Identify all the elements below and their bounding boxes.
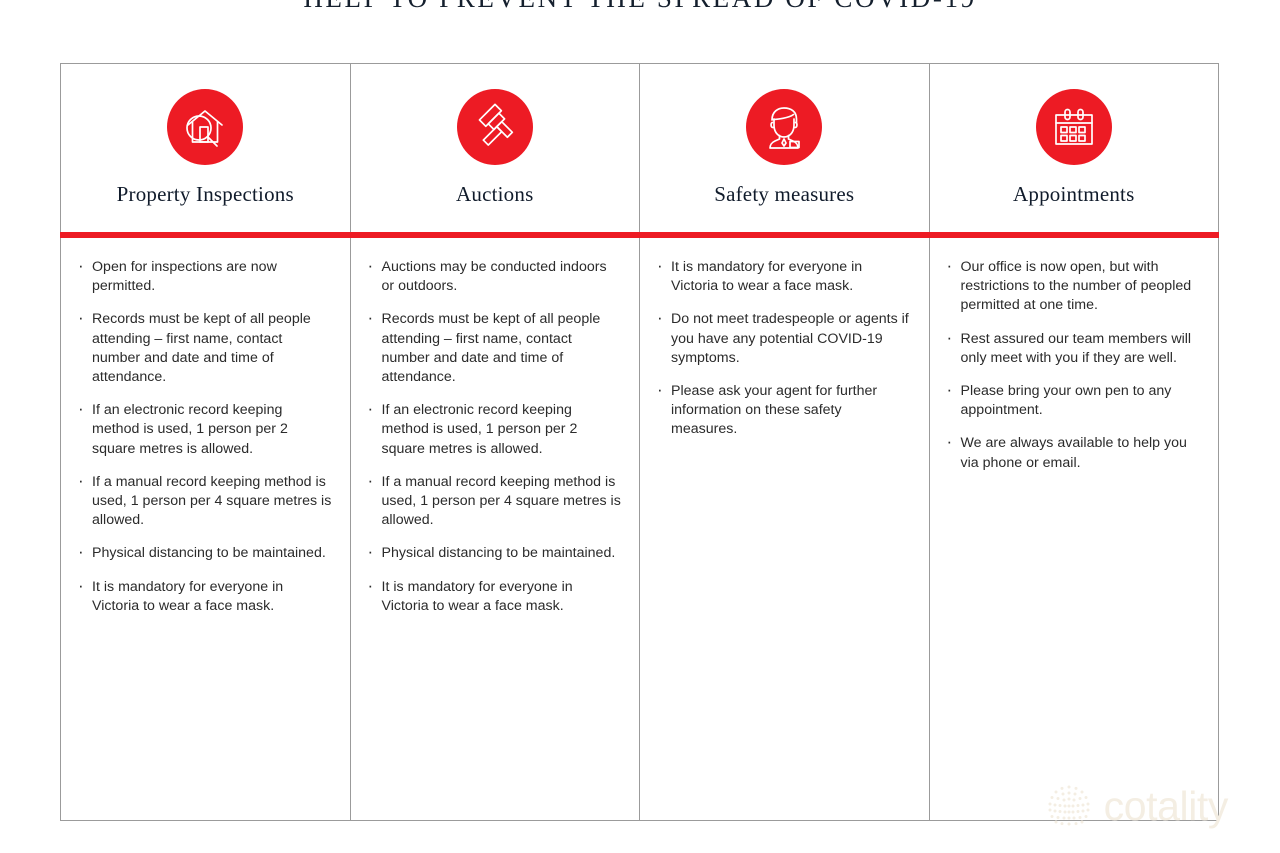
column-header-auctions: Auctions	[351, 64, 640, 236]
bullet-list: Auctions may be conducted indoors or out…	[367, 258, 622, 616]
list-item: It is mandatory for everyone in Victoria…	[77, 578, 332, 616]
house-magnifier-icon	[167, 89, 243, 165]
infographic-page: HELP TO PREVENT THE SPREAD OF COVID-19 P…	[0, 0, 1280, 853]
column-property-inspections: Property Inspections Open for inspection…	[61, 64, 351, 820]
bullet-list: It is mandatory for everyone in Victoria…	[656, 258, 911, 440]
bullet-list: Open for inspections are now permitted. …	[77, 258, 332, 616]
list-item: Physical distancing to be maintained.	[367, 544, 622, 563]
list-item: If a manual record keeping method is use…	[367, 473, 622, 531]
list-item: If an electronic record keeping method i…	[367, 401, 622, 459]
column-appointments: Appointments Our office is now open, but…	[930, 64, 1219, 820]
list-item: If an electronic record keeping method i…	[77, 401, 332, 459]
list-item: We are always available to help you via …	[946, 434, 1201, 472]
list-item: Rest assured our team members will only …	[946, 330, 1201, 368]
bullet-list: Our office is now open, but with restric…	[946, 258, 1201, 473]
list-item: It is mandatory for everyone in Victoria…	[656, 258, 911, 296]
list-item: If a manual record keeping method is use…	[77, 473, 332, 531]
list-item: Our office is now open, but with restric…	[946, 258, 1201, 316]
list-item: Please ask your agent for further inform…	[656, 382, 911, 440]
column-header-property-inspections: Property Inspections	[61, 64, 350, 236]
column-title: Appointments	[1013, 183, 1134, 206]
column-title: Auctions	[456, 183, 533, 206]
page-title: HELP TO PREVENT THE SPREAD OF COVID-19	[0, 0, 1280, 14]
list-item: Auctions may be conducted indoors or out…	[367, 258, 622, 296]
list-item: Physical distancing to be maintained.	[77, 544, 332, 563]
list-item: Records must be kept of all people atten…	[367, 310, 622, 387]
list-item: It is mandatory for everyone in Victoria…	[367, 578, 622, 616]
column-body-auctions: Auctions may be conducted indoors or out…	[351, 236, 640, 820]
masked-person-icon	[746, 89, 822, 165]
column-auctions: Auctions Auctions may be conducted indoo…	[351, 64, 641, 820]
column-title: Property Inspections	[117, 183, 294, 206]
guidance-table: Property Inspections Open for inspection…	[60, 63, 1219, 821]
calendar-icon	[1036, 89, 1112, 165]
column-title: Safety measures	[714, 183, 854, 206]
column-body-property-inspections: Open for inspections are now permitted. …	[61, 236, 350, 820]
column-body-safety-measures: It is mandatory for everyone in Victoria…	[640, 236, 929, 820]
list-item: Open for inspections are now permitted.	[77, 258, 332, 296]
column-safety-measures: Safety measures It is mandatory for ever…	[640, 64, 930, 820]
list-item: Records must be kept of all people atten…	[77, 310, 332, 387]
list-item: Do not meet tradespeople or agents if yo…	[656, 310, 911, 368]
column-body-appointments: Our office is now open, but with restric…	[930, 236, 1219, 820]
gavel-icon	[457, 89, 533, 165]
header-red-divider	[60, 232, 1219, 238]
column-header-safety-measures: Safety measures	[640, 64, 929, 236]
column-header-appointments: Appointments	[930, 64, 1219, 236]
list-item: Please bring your own pen to any appoint…	[946, 382, 1201, 420]
